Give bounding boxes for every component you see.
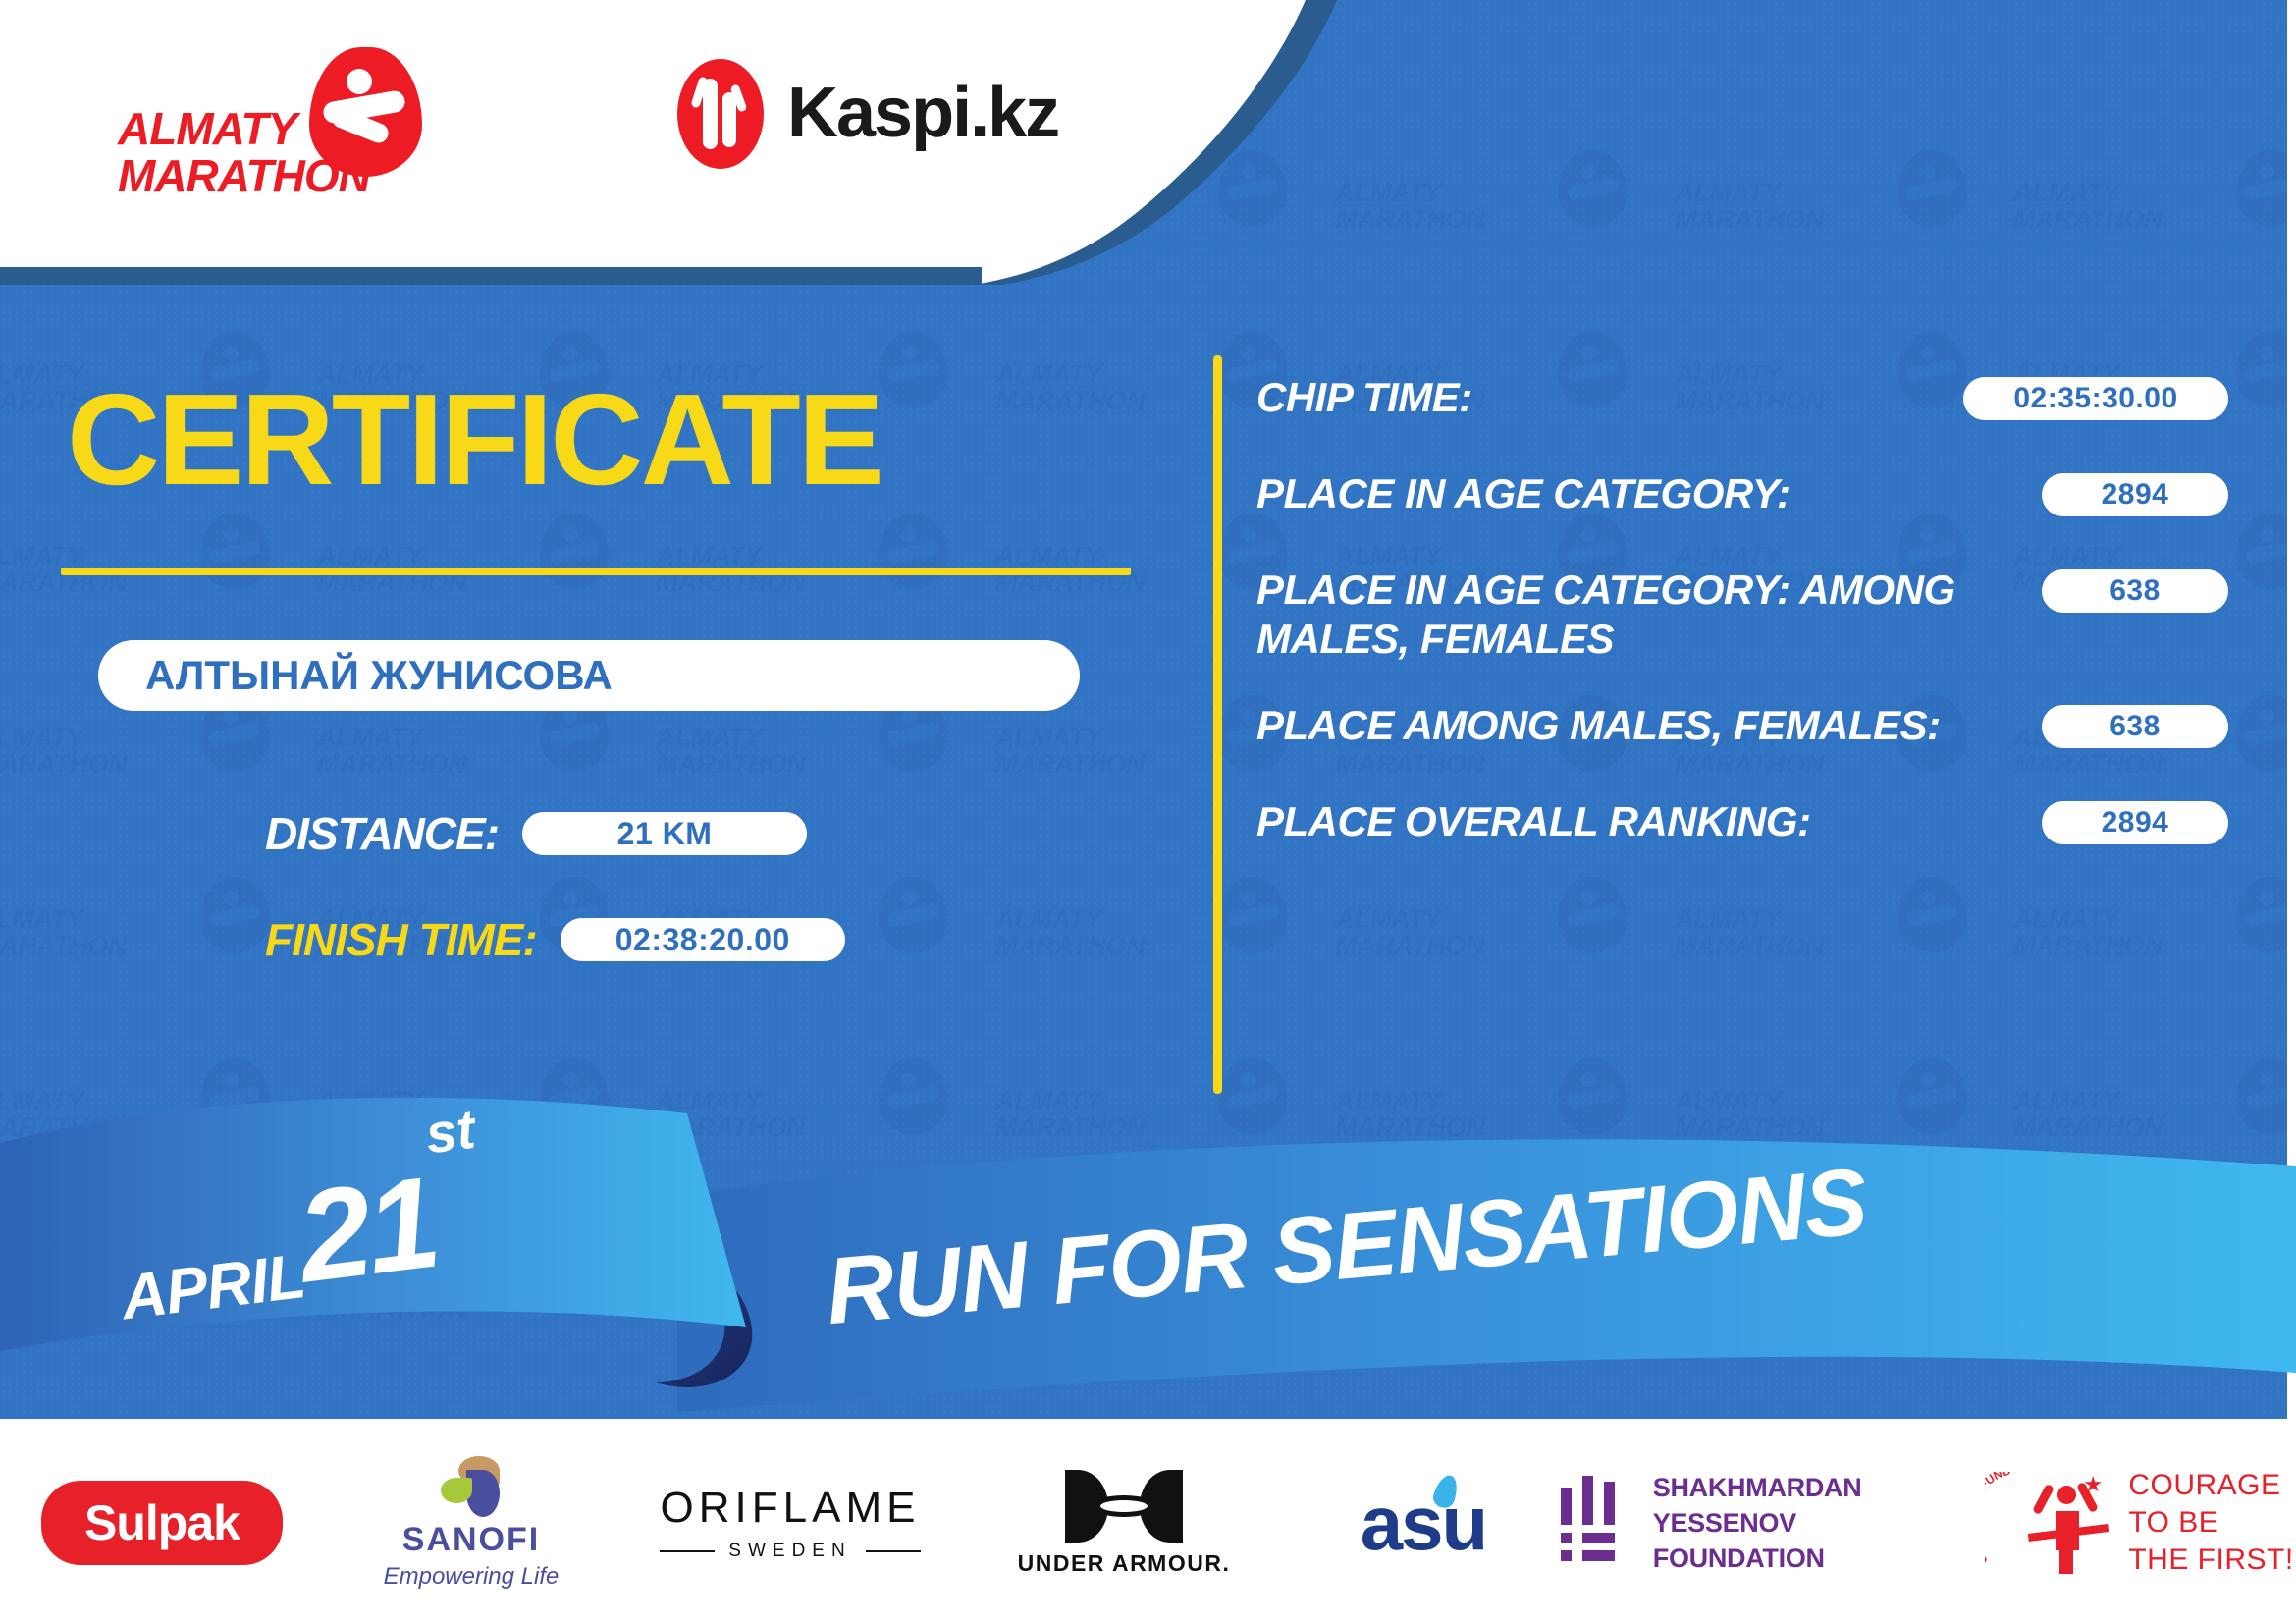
courage-line3: THE FIRST! bbox=[2128, 1542, 2293, 1579]
watermark-tile: ALMATYMARATHON bbox=[1675, 873, 1980, 1037]
kaspi-figure-left bbox=[703, 79, 718, 149]
watermark-tile: ALMATYMARATHON bbox=[0, 691, 283, 855]
sponsors-bar: Sulpak SANOFI Empowering Life ORIFLAME S… bbox=[0, 1422, 2296, 1624]
watermark-runner-icon bbox=[2236, 514, 2287, 589]
figure-head bbox=[2057, 1486, 2076, 1504]
bar-7 bbox=[1582, 1550, 1615, 1561]
kaspi-wordmark: Kaspi.kz bbox=[787, 73, 1058, 153]
yessenov-bars-icon bbox=[1561, 1476, 1631, 1570]
finish-time-label: FINISH TIME: bbox=[265, 913, 537, 966]
bar-4 bbox=[1561, 1533, 1572, 1543]
header: ALMATY MARATHON Kaspi.kz bbox=[0, 0, 1276, 196]
watermark-runner-icon bbox=[2236, 332, 2287, 407]
yessenov-line2: FOUNDATION bbox=[1653, 1541, 1983, 1576]
place-age-category-gender-label: PLACE IN AGE CATEGORY: AMONG MALES, FEMA… bbox=[1256, 566, 2042, 664]
title-underline bbox=[61, 568, 1131, 575]
bar-2 bbox=[1582, 1476, 1593, 1525]
watermark-runner-icon bbox=[200, 877, 269, 952]
oriflame-rule-left bbox=[660, 1550, 715, 1552]
participant-name-field: АЛТЫНАЙ ЖУНИСОВА bbox=[98, 640, 1080, 711]
watermark-tile: ALMATYMARATHON bbox=[995, 328, 1301, 492]
watermark-line1: ALMATY bbox=[317, 724, 423, 754]
watermark-line1: ALMATY bbox=[995, 724, 1101, 754]
bar-6 bbox=[1561, 1550, 1572, 1561]
place-age-category-gender-value-pill: 638 bbox=[2042, 569, 2228, 613]
oriflame-country: SWEDEN bbox=[728, 1541, 851, 1562]
result-row-place-among-gender: PLACE AMONG MALES, FEMALES: 638 bbox=[1256, 701, 2228, 760]
distance-label: DISTANCE: bbox=[265, 807, 499, 860]
watermark-line1: ALMATY bbox=[0, 724, 83, 754]
watermark-runner-icon bbox=[2236, 150, 2287, 226]
watermark-line2: MARATHON bbox=[2014, 932, 2163, 962]
svg-text:CORPORATE FUND: CORPORATE FUND bbox=[1985, 1472, 2012, 1568]
almaty-marathon-line1: ALMATY bbox=[118, 104, 296, 153]
figure-leg bbox=[2059, 1546, 2073, 1574]
place-overall-label: PLACE OVERALL RANKING: bbox=[1256, 797, 2042, 846]
watermark-runner-icon bbox=[1558, 150, 1627, 226]
watermark-runner-icon bbox=[1896, 150, 1965, 226]
watermark-runner-icon bbox=[2236, 695, 2287, 771]
place-age-category-value-pill: 2894 bbox=[2042, 473, 2228, 516]
watermark-line2: MARATHON bbox=[657, 750, 806, 781]
sanofi-tagline: Empowering Life bbox=[384, 1563, 560, 1591]
chip-time-value-pill: 02:35:30.00 bbox=[1963, 377, 2228, 420]
watermark-line1: ALMATY bbox=[2014, 905, 2120, 936]
courage-figure-icon: CORPORATE FUND ★ bbox=[1985, 1464, 2112, 1582]
watermark-line1: ALMATY bbox=[657, 724, 763, 754]
watermark-line1: ALMATY bbox=[995, 360, 1101, 391]
sanofi-logo: SANOFI Empowering Life bbox=[384, 1456, 560, 1591]
almaty-marathon-logo: ALMATY MARATHON bbox=[118, 47, 442, 185]
kaspi-figure-right bbox=[722, 92, 736, 147]
oriflame-logo: ORIFLAME SWEDEN bbox=[660, 1484, 920, 1562]
result-row-place-age-category: PLACE IN AGE CATEGORY: 2894 bbox=[1256, 469, 2228, 528]
sponsor-sanofi: SANOFI Empowering Life bbox=[324, 1454, 618, 1592]
place-among-gender-label: PLACE AMONG MALES, FEMALES: bbox=[1256, 701, 2042, 750]
watermark-line1: ALMATY bbox=[1675, 905, 1781, 936]
result-row-place-age-category-gender: PLACE IN AGE CATEGORY: AMONG MALES, FEMA… bbox=[1256, 566, 2228, 664]
asu-logo: asu bbox=[1361, 1479, 1486, 1568]
under-armour-logo: UNDER ARMOUR. bbox=[1018, 1470, 1231, 1577]
watermark-runner-icon bbox=[540, 514, 609, 589]
ua-center-hole bbox=[1100, 1500, 1148, 1512]
watermark-tile: ALMATYMARATHON bbox=[1675, 146, 1980, 310]
courage-wordmark: COURAGE TO BE THE FIRST! bbox=[2128, 1467, 2293, 1579]
finish-time-value-pill: 02:38:20.00 bbox=[561, 918, 845, 961]
yessenov-line1: SHAKHMARDAN YESSENOV bbox=[1653, 1470, 1983, 1541]
courage-line1: COURAGE bbox=[2128, 1467, 2293, 1504]
yessenov-foundation-logo: SHAKHMARDAN YESSENOV FOUNDATION bbox=[1561, 1470, 1983, 1576]
watermark-line1: ALMATY bbox=[1675, 179, 1781, 209]
place-overall-value: 2894 bbox=[2102, 806, 2169, 839]
distance-value-pill: 21 KM bbox=[522, 812, 807, 855]
watermark-line2: MARATHON bbox=[317, 750, 466, 781]
bar-1 bbox=[1561, 1488, 1572, 1525]
corporate-fund-label: CORPORATE FUND bbox=[1985, 1472, 2012, 1568]
finish-time-row: FINISH TIME: 02:38:20.00 bbox=[265, 913, 845, 966]
bar-3 bbox=[1604, 1482, 1615, 1525]
sponsor-courage-to-be-the-first: CORPORATE FUND ★ COURAGE TO BE THE FIRST… bbox=[1983, 1454, 2296, 1592]
bar-5 bbox=[1582, 1533, 1615, 1543]
distance-value: 21 KM bbox=[617, 816, 713, 852]
yessenov-wordmark: SHAKHMARDAN YESSENOV FOUNDATION bbox=[1653, 1470, 1983, 1576]
column-divider bbox=[1213, 355, 1222, 1094]
watermark-line2: MARATHON bbox=[2014, 205, 2163, 236]
chip-time-label: CHIP TIME: bbox=[1256, 373, 1963, 422]
watermark-tile: ALMATYMARATHON bbox=[995, 691, 1301, 855]
watermark-tile: ALMATYMARATHON bbox=[0, 873, 283, 1037]
watermark-line2: MARATHON bbox=[0, 932, 127, 962]
oriflame-sub-row: SWEDEN bbox=[660, 1541, 920, 1562]
sanofi-wordmark: SANOFI bbox=[402, 1521, 540, 1559]
raised-arms-figure: ★ bbox=[2036, 1478, 2101, 1574]
watermark-line1: ALMATY bbox=[1335, 905, 1441, 936]
sulpak-wordmark: Sulpak bbox=[84, 1494, 240, 1551]
participant-name-value: АЛТЫНАЙ ЖУНИСОВА bbox=[145, 652, 613, 699]
kaspi-logo: Kaspi.kz bbox=[677, 59, 1090, 177]
runner-leg-shape bbox=[329, 105, 391, 145]
watermark-tile: ALMATYMARATHON bbox=[2014, 873, 2287, 1037]
sponsor-oriflame: ORIFLAME SWEDEN bbox=[618, 1454, 962, 1592]
courage-to-be-the-first-logo: CORPORATE FUND ★ COURAGE TO BE THE FIRST… bbox=[1985, 1464, 2293, 1582]
place-age-category-value: 2894 bbox=[2102, 478, 2169, 512]
sponsor-sulpak: Sulpak bbox=[0, 1454, 324, 1592]
results-list: CHIP TIME: 02:35:30.00 PLACE IN AGE CATE… bbox=[1256, 373, 2228, 893]
watermark-line1: ALMATY bbox=[2014, 179, 2120, 209]
event-day-ordinal: st bbox=[422, 1098, 478, 1165]
place-overall-value-pill: 2894 bbox=[2042, 801, 2228, 844]
sponsor-asu: asu bbox=[1286, 1454, 1561, 1592]
result-row-chip-time: CHIP TIME: 02:35:30.00 bbox=[1256, 373, 2228, 432]
watermark-runner-icon bbox=[879, 514, 947, 589]
place-among-gender-value: 638 bbox=[2109, 710, 2161, 743]
watermark-runner-icon bbox=[2236, 877, 2287, 952]
oriflame-wordmark: ORIFLAME bbox=[661, 1484, 921, 1533]
watermark-runner-icon bbox=[879, 332, 947, 407]
watermark-line2: MARATHON bbox=[1675, 205, 1824, 236]
sulpak-logo: Sulpak bbox=[41, 1481, 283, 1565]
watermark-tile: ALMATYMARATHON bbox=[1335, 873, 1640, 1037]
place-among-gender-value-pill: 638 bbox=[2042, 705, 2228, 748]
oriflame-rule-right bbox=[866, 1550, 921, 1552]
under-armour-icon bbox=[1065, 1470, 1183, 1543]
kaspi-people-icon bbox=[677, 59, 764, 169]
watermark-runner-icon bbox=[879, 877, 947, 952]
event-day: 21 bbox=[291, 1150, 444, 1310]
watermark-tile: ALMATYMARATHON bbox=[995, 873, 1301, 1037]
page-title: CERTIFICATE bbox=[67, 375, 881, 505]
watermark-tile: ALMATYMARATHON bbox=[2014, 146, 2287, 310]
watermark-line2: MARATHON bbox=[0, 750, 127, 781]
chip-time-value: 02:35:30.00 bbox=[2013, 382, 2177, 415]
watermark-line1: ALMATY bbox=[0, 905, 83, 936]
watermark-line2: MARATHON bbox=[995, 750, 1145, 781]
sanofi-shape-green bbox=[441, 1478, 472, 1503]
watermark-line2: MARATHON bbox=[1675, 932, 1824, 962]
place-age-category-gender-value: 638 bbox=[2109, 574, 2161, 608]
sponsor-under-armour: UNDER ARMOUR. bbox=[962, 1454, 1286, 1592]
result-row-place-overall: PLACE OVERALL RANKING: 2894 bbox=[1256, 797, 2228, 856]
distance-row: DISTANCE: 21 KM bbox=[265, 807, 807, 860]
asu-wordmark: asu bbox=[1361, 1479, 1486, 1568]
courage-line2: TO BE bbox=[2128, 1504, 2293, 1542]
sanofi-bird-icon bbox=[433, 1456, 509, 1517]
watermark-line2: MARATHON bbox=[1335, 932, 1484, 962]
watermark-line2: MARATHON bbox=[995, 932, 1145, 962]
sponsor-yessenov-foundation: SHAKHMARDAN YESSENOV FOUNDATION bbox=[1561, 1454, 1983, 1592]
watermark-line1: ALMATY bbox=[995, 905, 1101, 936]
finish-time-value: 02:38:20.00 bbox=[615, 922, 790, 958]
watermark-runner-icon bbox=[200, 514, 269, 589]
watermark-line2: MARATHON bbox=[995, 387, 1145, 417]
figure-arm-left bbox=[2032, 1484, 2055, 1515]
place-age-category-label: PLACE IN AGE CATEGORY: bbox=[1256, 469, 2042, 518]
almaty-marathon-line2: MARATHON bbox=[118, 151, 370, 200]
under-armour-wordmark: UNDER ARMOUR. bbox=[1018, 1550, 1231, 1577]
